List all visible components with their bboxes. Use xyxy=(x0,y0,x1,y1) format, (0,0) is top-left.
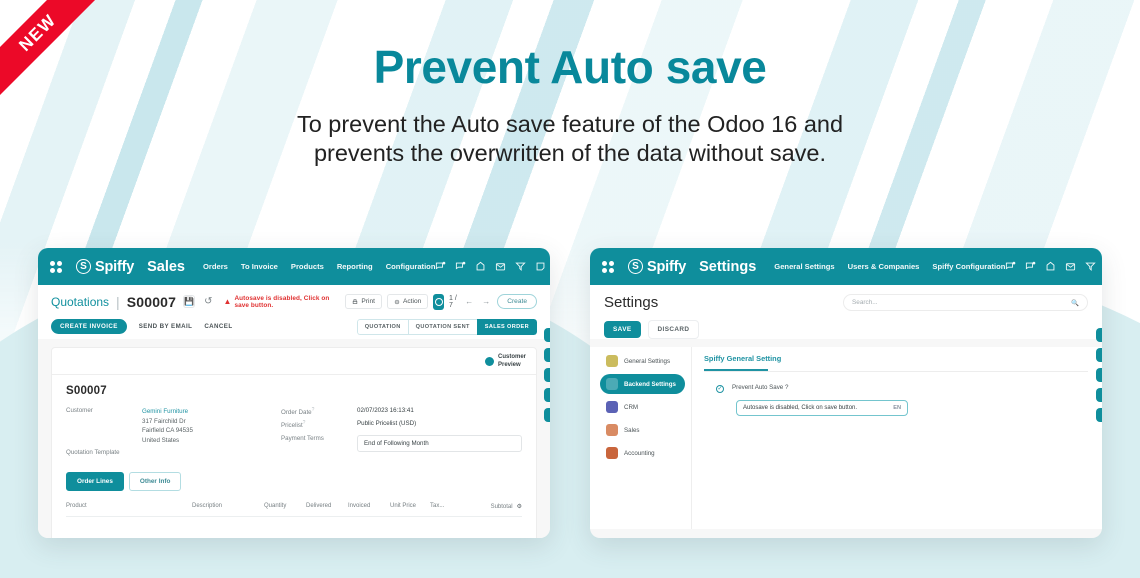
accounting-icon xyxy=(606,447,618,459)
sidebar-label-accounting: Accounting xyxy=(624,450,655,457)
order-lines-empty xyxy=(66,517,522,538)
autosave-warning-text: Autosave is disabled, Click on save butt… xyxy=(234,295,338,309)
column-delivered: Delivered xyxy=(306,503,348,510)
record-sheet: Customer Preview S00007 Customer Gemini … xyxy=(51,347,537,538)
section-title: Spiffy General Setting xyxy=(704,354,1088,367)
customer-name: Gemini Furniture xyxy=(142,408,188,415)
nav-item-reporting[interactable]: Reporting xyxy=(337,262,373,271)
language-badge[interactable]: EN xyxy=(893,405,901,411)
breadcrumb-current-record: S00007 xyxy=(127,294,176,310)
field-payment-terms: Payment Terms End of Following Month xyxy=(281,435,522,452)
customer-preview-label: Customer Preview xyxy=(498,354,526,369)
globe-icon xyxy=(485,357,494,366)
megaphone-icon[interactable] xyxy=(515,261,526,272)
prevent-auto-save-option: ✓ Prevent Auto Save ? xyxy=(704,384,1088,393)
zoom-icon[interactable]: 🔍 xyxy=(544,388,550,402)
control-panel: Quotations | S00007 💾 ↺ ▲ Autosave is di… xyxy=(38,285,550,339)
sidebar-item-backend-settings[interactable]: Backend Settings xyxy=(600,374,685,394)
customer-address-3: United States xyxy=(142,437,179,444)
record-action-row: CREATE INVOICE SEND BY EMAIL CANCEL QUOT… xyxy=(51,314,537,339)
left-side-toolbar: ☆ ⚲ ↗ 🔍 🔖 xyxy=(544,328,550,422)
nav-item-general-settings[interactable]: General Settings xyxy=(774,262,834,271)
sidebar-label-backend-settings: Backend Settings xyxy=(624,381,676,388)
nav-item-orders[interactable]: Orders xyxy=(203,262,228,271)
print-icon[interactable] xyxy=(475,261,486,272)
action-label: Action xyxy=(403,298,421,305)
column-invoiced: Invoiced xyxy=(348,503,390,510)
sales-quotation-window: Spiffy Sales Orders To Invoice Products … xyxy=(38,248,550,538)
sidebar-item-sales[interactable]: Sales xyxy=(600,420,685,440)
message-bubble-icon[interactable] xyxy=(1005,261,1016,272)
check-circle-icon[interactable]: ✓ xyxy=(716,385,724,393)
settings-sidebar: General Settings Backend Settings CRM Sa… xyxy=(590,347,692,529)
pager-count: 1 / 7 xyxy=(449,295,458,309)
hero-text-block: Prevent Auto save To prevent the Auto sa… xyxy=(0,40,1140,167)
autosave-warning: ▲ Autosave is disabled, Click on save bu… xyxy=(224,295,339,309)
column-unit-price: Unit Price xyxy=(390,503,430,510)
megaphone-icon[interactable] xyxy=(1085,261,1096,272)
sheet-tabs: Order Lines Other Info xyxy=(66,472,522,491)
prevent-auto-save-label: Prevent Auto Save ? xyxy=(732,384,788,391)
column-quantity: Quantity xyxy=(264,503,306,510)
search-circle-icon[interactable]: ⚲ xyxy=(1096,348,1102,362)
mail-icon[interactable] xyxy=(495,261,506,272)
settings-main: General Settings Backend Settings CRM Sa… xyxy=(590,347,1102,529)
crm-icon xyxy=(606,401,618,413)
nav-item-products[interactable]: Products xyxy=(291,262,324,271)
page-subtitle-line-2: prevents the overwritten of the data wit… xyxy=(0,139,1140,168)
send-by-email-button[interactable]: SEND BY EMAIL xyxy=(139,323,193,330)
action-button[interactable]: Action xyxy=(387,294,428,309)
print-button[interactable]: Print xyxy=(345,294,382,309)
section-divider xyxy=(704,371,1088,372)
sheet-body: S00007 Customer Gemini Furniture 317 Fai… xyxy=(52,375,536,538)
right-navbar: Spiffy Settings General Settings Users &… xyxy=(590,248,1102,285)
control-panel-actions: Print Action 1 / 7 ← → Create xyxy=(345,294,537,310)
field-pricelist-value[interactable]: Public Pricelist (USD) xyxy=(357,420,416,429)
breadcrumb-separator: | xyxy=(116,294,120,310)
customer-preview-button[interactable]: Customer Preview xyxy=(485,354,526,369)
sidebar-label-general-settings: General Settings xyxy=(624,358,670,365)
poster-canvas: NEW Prevent Auto save To prevent the Aut… xyxy=(0,0,1140,578)
page-subtitle: To prevent the Auto save feature of the … xyxy=(0,110,1140,167)
settings-window: Spiffy Settings General Settings Users &… xyxy=(590,248,1102,538)
field-quotation-template: Quotation Template xyxy=(66,449,261,456)
mail-icon[interactable] xyxy=(1065,261,1076,272)
apps-grid-icon[interactable] xyxy=(50,261,62,273)
tab-order-lines[interactable]: Order Lines xyxy=(66,472,124,491)
page-subtitle-line-1: To prevent the Auto save feature of the … xyxy=(0,110,1140,139)
star-icon[interactable]: ☆ xyxy=(1096,328,1102,342)
chevron-right-icon[interactable]: → xyxy=(480,297,492,306)
sidebar-item-general-settings[interactable]: General Settings xyxy=(600,351,685,371)
backend-settings-icon xyxy=(606,378,618,390)
payment-terms-input[interactable]: End of Following Month xyxy=(357,435,522,452)
expand-diagonal-icon[interactable]: ↗ xyxy=(544,368,550,382)
autosave-message-input[interactable]: Autosave is disabled, Click on save butt… xyxy=(736,400,908,416)
sidebar-label-crm: CRM xyxy=(624,404,638,411)
brand-name: Spiffy xyxy=(647,259,686,275)
nav-item-to-invoice[interactable]: To Invoice xyxy=(241,262,278,271)
brand-logo[interactable]: Spiffy xyxy=(76,259,134,275)
form-column-right: Order Date? 02/07/2023 16:13:41 Pricelis… xyxy=(281,407,522,460)
breadcrumb-quotations[interactable]: Quotations xyxy=(51,295,109,309)
message-bubble-icon[interactable] xyxy=(435,261,446,272)
customer-preview-line-2: Preview xyxy=(498,362,521,368)
field-customer-value[interactable]: Gemini Furniture 317 Fairchild Dr Fairfi… xyxy=(142,407,193,445)
search-circle-icon[interactable]: ⚲ xyxy=(544,348,550,362)
sidebar-item-accounting[interactable]: Accounting xyxy=(600,443,685,463)
sales-icon xyxy=(606,424,618,436)
sheet-wrapper: Customer Preview S00007 Customer Gemini … xyxy=(38,339,550,538)
tab-other-info[interactable]: Other Info xyxy=(129,472,182,491)
loading-spinner-icon[interactable] xyxy=(433,294,444,310)
warning-triangle-icon: ▲ xyxy=(224,297,232,306)
search-placeholder: Search... xyxy=(852,299,878,306)
print-label: Print xyxy=(361,298,375,305)
field-order-date: Order Date? 02/07/2023 16:13:41 xyxy=(281,407,522,416)
record-title: S00007 xyxy=(66,385,522,397)
settings-toolbar: SAVE DISCARD xyxy=(604,320,1088,339)
save-disk-icon[interactable]: 💾 xyxy=(183,295,195,308)
left-navbar: Spiffy Sales Orders To Invoice Products … xyxy=(38,248,550,285)
left-navbar-icons xyxy=(435,258,550,275)
right-navbar-icons xyxy=(1005,258,1102,275)
new-ribbon: NEW xyxy=(0,0,110,110)
right-side-toolbar: ☆ ⚲ ↗ 🔍 🔖 xyxy=(1096,328,1102,422)
field-pricelist: Pricelist? Public Pricelist (USD) xyxy=(281,420,522,429)
status-sales-order[interactable]: SALES ORDER xyxy=(477,319,537,335)
brand-logo[interactable]: Spiffy xyxy=(628,259,686,275)
create-invoice-button[interactable]: CREATE INVOICE xyxy=(51,319,127,334)
apps-grid-icon[interactable] xyxy=(602,261,614,273)
field-quotation-template-label: Quotation Template xyxy=(66,449,142,456)
nav-item-spiffy-configuration[interactable]: Spiffy Configuration xyxy=(932,262,1005,271)
customer-address-2: Fairfield CA 94535 xyxy=(142,427,193,434)
undo-icon[interactable]: ↺ xyxy=(204,296,212,307)
status-quotation[interactable]: QUOTATION xyxy=(357,319,408,335)
spiffy-logo-icon xyxy=(76,259,91,274)
discard-button[interactable]: DISCARD xyxy=(648,320,700,339)
status-quotation-sent[interactable]: QUOTATION SENT xyxy=(408,319,477,335)
field-payment-terms-label: Payment Terms xyxy=(281,435,357,452)
save-button[interactable]: SAVE xyxy=(604,321,641,338)
new-ribbon-label: NEW xyxy=(0,0,110,105)
bookmark-icon[interactable]: 🔖 xyxy=(544,408,550,422)
expand-diagonal-icon[interactable]: ↗ xyxy=(1096,368,1102,382)
column-subtotal: Subtotal⚙ xyxy=(470,503,522,510)
field-order-date-label: Order Date? xyxy=(281,407,357,416)
gear-icon xyxy=(394,299,400,305)
right-nav-menu: General Settings Users & Companies Spiff… xyxy=(774,262,1005,271)
cancel-button[interactable]: CANCEL xyxy=(204,323,232,330)
form-columns: Customer Gemini Furniture 317 Fairchild … xyxy=(66,407,522,460)
status-bar: QUOTATION QUOTATION SENT SALES ORDER xyxy=(357,319,537,335)
column-settings-icon[interactable]: ⚙ xyxy=(517,503,522,510)
general-settings-icon xyxy=(606,355,618,367)
settings-content: Spiffy General Setting ✓ Prevent Auto Sa… xyxy=(692,347,1102,529)
app-name-settings: Settings xyxy=(699,259,756,275)
sidebar-item-crm[interactable]: CRM xyxy=(600,397,685,417)
field-pricelist-label: Pricelist? xyxy=(281,420,357,429)
autosave-message-value: Autosave is disabled, Click on save butt… xyxy=(743,405,857,411)
column-product: Product xyxy=(66,503,192,510)
customer-address-1: 317 Fairchild Dr xyxy=(142,418,186,425)
app-name-sales: Sales xyxy=(147,259,185,275)
print-icon[interactable] xyxy=(1045,261,1056,272)
column-tax: Tax... xyxy=(430,503,470,510)
printer-icon xyxy=(352,299,358,305)
settings-search-box[interactable]: Search... 🔍 xyxy=(843,294,1088,311)
star-icon[interactable]: ☆ xyxy=(544,328,550,342)
field-customer-label: Customer xyxy=(66,407,142,445)
nav-item-users-and-companies[interactable]: Users & Companies xyxy=(848,262,920,271)
nav-item-configuration[interactable]: Configuration xyxy=(386,262,436,271)
order-lines-header: Product Description Quantity Delivered I… xyxy=(66,503,522,517)
magnifier-icon[interactable]: 🔍 xyxy=(1071,299,1079,307)
sheet-top-bar: Customer Preview xyxy=(52,348,536,375)
activity-bubble-icon[interactable] xyxy=(1025,261,1036,272)
column-description: Description xyxy=(192,503,264,510)
field-customer: Customer Gemini Furniture 317 Fairchild … xyxy=(66,407,261,445)
create-button[interactable]: Create xyxy=(497,294,537,309)
note-icon[interactable] xyxy=(535,261,546,272)
page-title: Prevent Auto save xyxy=(0,40,1140,94)
form-column-left: Customer Gemini Furniture 317 Fairchild … xyxy=(66,407,261,460)
breadcrumb-row: Quotations | S00007 💾 ↺ ▲ Autosave is di… xyxy=(51,292,537,311)
bookmark-icon[interactable]: 🔖 xyxy=(1096,408,1102,422)
sidebar-label-sales: Sales xyxy=(624,427,639,434)
activity-bubble-icon[interactable] xyxy=(455,261,466,272)
chevron-left-icon[interactable]: ← xyxy=(463,297,475,306)
brand-name: Spiffy xyxy=(95,259,134,275)
left-nav-menu: Orders To Invoice Products Reporting Con… xyxy=(203,262,435,271)
field-order-date-value[interactable]: 02/07/2023 16:13:41 xyxy=(357,407,414,416)
customer-preview-line-1: Customer xyxy=(498,354,526,360)
zoom-icon[interactable]: 🔍 xyxy=(1096,388,1102,402)
spiffy-logo-icon xyxy=(628,259,643,274)
